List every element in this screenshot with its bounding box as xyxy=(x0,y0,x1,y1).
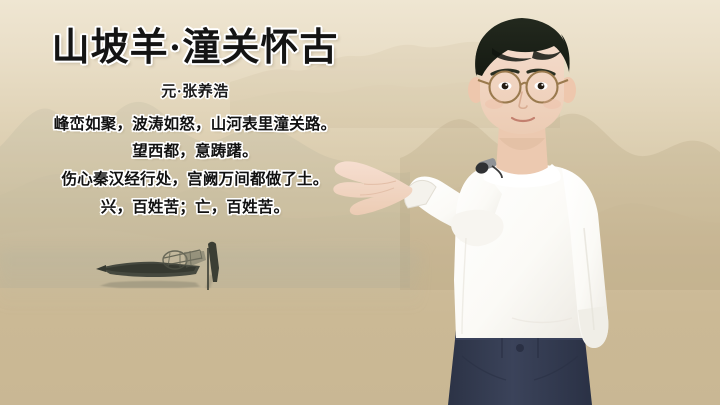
slide-canvas: 山坡羊·潼关怀古 元·张养浩 峰峦如聚，波涛如怒，山河表里潼关路。 望西都，意踌… xyxy=(0,0,720,405)
poem-body: 峰峦如聚，波涛如怒，山河表里潼关路。 望西都，意踌躇。 伤心秦汉经行处，宫阙万间… xyxy=(0,111,390,221)
boat-reflection xyxy=(96,274,242,288)
torso xyxy=(448,164,608,405)
page-title: 山坡羊·潼关怀古 xyxy=(0,26,390,71)
head xyxy=(468,18,576,134)
poem-line: 伤心秦汉经行处，宫阙万间都做了土。 xyxy=(0,166,390,194)
jeans xyxy=(448,330,592,405)
poem-line: 望西都，意踌躇。 xyxy=(0,138,390,166)
poem-line: 峰峦如聚，波涛如怒，山河表里潼关路。 xyxy=(0,111,390,139)
poem-line: 兴，百姓苦；亡，百姓苦。 xyxy=(0,194,390,222)
fishing-boat-with-net xyxy=(96,238,242,298)
poem-author: 元·张养浩 xyxy=(0,80,390,101)
poem-text-block: 山坡羊·潼关怀古 元·张养浩 峰峦如聚，波涛如怒，山河表里潼关路。 望西都，意踌… xyxy=(0,26,390,221)
